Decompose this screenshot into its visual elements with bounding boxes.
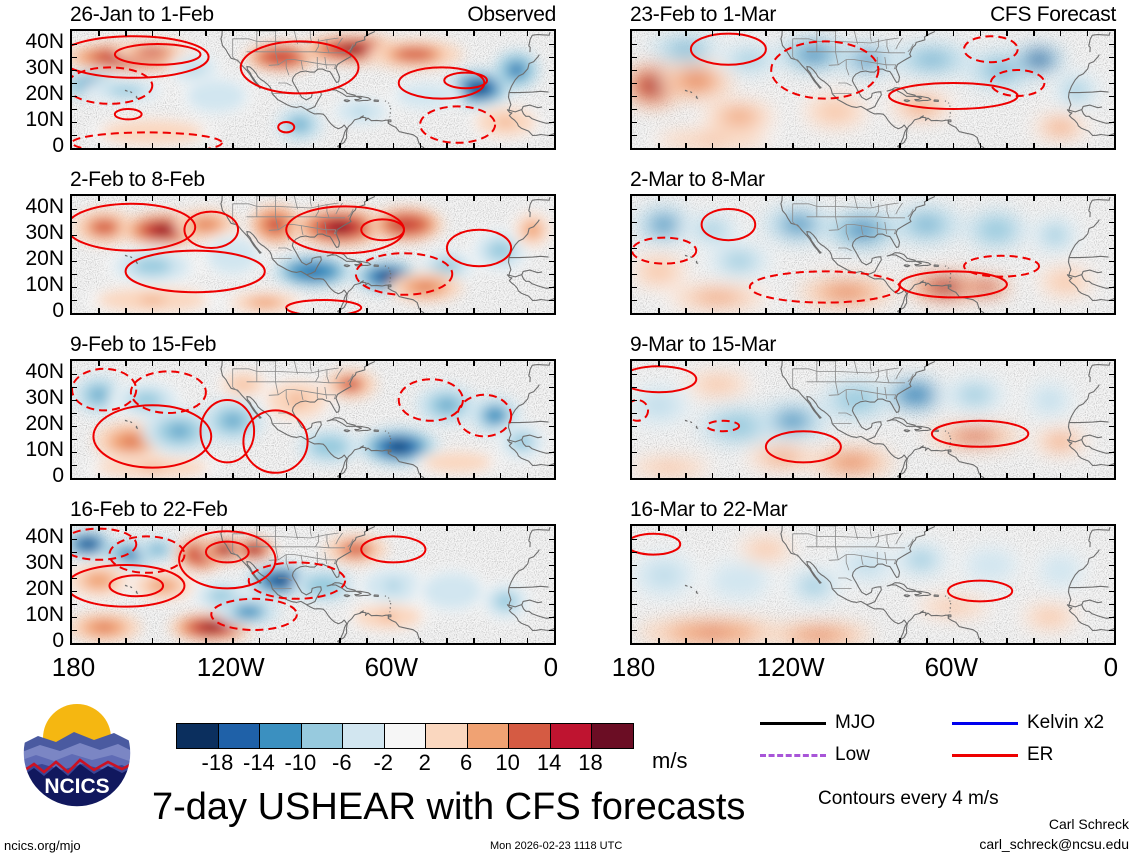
axis-tick [846, 473, 848, 478]
axis-tick [152, 526, 154, 531]
axis-tick [366, 638, 368, 643]
axis-tick [339, 143, 341, 148]
y-tick-label: 0 [52, 630, 64, 651]
axis-tick [98, 473, 100, 478]
axis-tick [232, 196, 234, 201]
axis-tick [549, 222, 554, 224]
axis-tick [1033, 31, 1035, 36]
axis-tick [632, 617, 637, 619]
axis-tick [632, 413, 637, 415]
axis-tick [125, 31, 127, 36]
axis-tick [125, 196, 127, 201]
axis-tick [1006, 308, 1008, 313]
x-tick-label: 120W [757, 652, 825, 683]
axis-tick [873, 308, 875, 313]
axis-tick [549, 630, 554, 632]
axis-tick [313, 196, 315, 201]
axis-tick [1109, 209, 1114, 211]
axis-tick [72, 248, 77, 250]
axis-tick [1109, 374, 1114, 376]
axis-tick [1006, 196, 1008, 201]
axis-tick [549, 96, 554, 98]
axis-tick [125, 526, 127, 531]
axis-tick [1109, 261, 1114, 263]
axis-tick [980, 143, 982, 148]
colorbar-swatch-8 [509, 724, 551, 748]
panel-title: 16-Mar to 22-Mar [630, 498, 787, 522]
map-plot-area [630, 359, 1116, 480]
axis-tick [549, 109, 554, 111]
axis-tick [179, 31, 181, 36]
map-plot-area [70, 29, 556, 150]
panel-title: 2-Mar to 8-Mar [630, 168, 765, 192]
axis-tick [98, 638, 100, 643]
axis-tick [632, 109, 637, 111]
axis-tick [1109, 426, 1114, 428]
axis-tick [739, 196, 741, 201]
axis-tick [72, 452, 77, 454]
legend-line-swatch [760, 754, 826, 757]
y-tick-label: 20N [25, 578, 64, 599]
axis-tick [1109, 57, 1114, 59]
axis-tick [420, 638, 422, 643]
axis-tick [286, 196, 288, 201]
axis-tick [846, 143, 848, 148]
axis-tick [632, 222, 637, 224]
axis-tick [152, 196, 154, 201]
x-tick-label: 0 [1104, 652, 1118, 683]
axis-tick [393, 308, 395, 313]
x-axis-labels-right: 180120W60W0 [630, 652, 1110, 682]
axis-tick [685, 308, 687, 313]
y-tick-label: 10N [25, 109, 64, 130]
axis-tick [1109, 400, 1114, 402]
axis-tick [72, 565, 77, 567]
axis-tick [1109, 287, 1114, 289]
y-tick-label: 30N [25, 222, 64, 243]
axis-tick [549, 135, 554, 137]
axis-tick [1006, 526, 1008, 531]
axis-tick [926, 361, 928, 366]
axis-tick [739, 308, 741, 313]
y-tick-label: 40N [25, 196, 64, 217]
x-tick-label: 0 [544, 652, 558, 683]
axis-tick [152, 308, 154, 313]
colorbar-swatch-9 [551, 724, 593, 748]
axis-tick [1109, 591, 1114, 593]
axis-tick [712, 638, 714, 643]
axis-tick [549, 578, 554, 580]
axis-tick [739, 473, 741, 478]
axis-tick [953, 308, 955, 313]
axis-tick [473, 361, 475, 366]
axis-tick [259, 196, 261, 201]
axis-tick [72, 235, 77, 237]
axis-tick [632, 96, 637, 98]
axis-tick [846, 196, 848, 201]
author-email: carl_schreck@ncsu.edu [979, 836, 1129, 852]
y-tick-label: 40N [25, 31, 64, 52]
axis-tick [259, 361, 261, 366]
y-tick-label: 20N [25, 413, 64, 434]
axis-tick [549, 465, 554, 467]
panel-3: 9-Feb to 15-Feb 40N30N20N10N0 [70, 334, 556, 481]
colorbar-swatch-10 [592, 724, 633, 748]
axis-tick [286, 31, 288, 36]
axis-tick [685, 361, 687, 366]
axis-tick [72, 374, 77, 376]
axis-tick [549, 44, 554, 46]
axis-tick [549, 70, 554, 72]
axis-tick [632, 287, 637, 289]
axis-tick [658, 308, 660, 313]
axis-tick [819, 526, 821, 531]
axis-tick [632, 604, 637, 606]
axis-tick [873, 526, 875, 531]
axis-tick [98, 308, 100, 313]
axis-tick [527, 526, 529, 531]
axis-tick [846, 361, 848, 366]
axis-tick [313, 526, 315, 531]
axis-tick [1109, 44, 1114, 46]
axis-tick [72, 591, 77, 593]
axis-tick [926, 31, 928, 36]
y-axis-labels: 40N30N20N10N0 [4, 194, 64, 311]
axis-tick [632, 539, 637, 541]
axis-tick [632, 209, 637, 211]
axis-tick [72, 70, 77, 72]
axis-tick [1087, 361, 1089, 366]
axis-tick [420, 143, 422, 148]
x-tick-label: 60W [925, 652, 978, 683]
axis-tick [286, 638, 288, 643]
axis-tick [259, 638, 261, 643]
axis-tick [846, 31, 848, 36]
axis-tick [259, 308, 261, 313]
axis-tick [792, 638, 794, 643]
axis-tick [420, 308, 422, 313]
axis-tick [72, 96, 77, 98]
axis-tick [500, 361, 502, 366]
axis-tick [1109, 135, 1114, 137]
contour-interval-note: Contours every 4 m/s [818, 788, 999, 810]
axis-tick [72, 122, 77, 124]
axis-tick [549, 248, 554, 250]
axis-tick [953, 638, 955, 643]
axis-tick [632, 248, 637, 250]
axis-tick [765, 526, 767, 531]
y-tick-label: 0 [52, 300, 64, 321]
axis-tick [926, 638, 928, 643]
axis-tick [205, 143, 207, 148]
axis-tick [72, 44, 77, 46]
axis-tick [632, 235, 637, 237]
axis-tick [549, 287, 554, 289]
axis-tick [926, 308, 928, 313]
column-header: CFS Forecast [990, 3, 1116, 27]
axis-tick [72, 539, 77, 541]
axis-tick [632, 465, 637, 467]
axis-tick [712, 526, 714, 531]
axis-tick [72, 426, 77, 428]
axis-tick [549, 235, 554, 237]
axis-tick [1109, 235, 1114, 237]
axis-tick [205, 526, 207, 531]
axis-tick [549, 261, 554, 263]
axis-tick [632, 552, 637, 554]
panel-2: 2-Feb to 8-Feb 40N30N20N10N0 [70, 169, 556, 316]
axis-tick [1006, 143, 1008, 148]
axis-tick [549, 83, 554, 85]
axis-tick [549, 400, 554, 402]
axis-tick [72, 413, 77, 415]
axis-tick [339, 308, 341, 313]
axis-tick [1033, 143, 1035, 148]
axis-tick [393, 473, 395, 478]
legend-item-mjo: MJO [760, 712, 875, 734]
axis-tick [632, 630, 637, 632]
axis-tick [765, 143, 767, 148]
axis-tick [1109, 274, 1114, 276]
timestamp: Mon 2026-02-23 1118 UTC [490, 840, 622, 852]
axis-tick [632, 452, 637, 454]
axis-tick [420, 196, 422, 201]
legend-item-low: Low [760, 744, 870, 766]
panel-7: 9-Mar to 15-Mar [630, 334, 1116, 481]
axis-tick [658, 143, 660, 148]
axis-tick [846, 308, 848, 313]
axis-tick [926, 473, 928, 478]
axis-tick [685, 31, 687, 36]
axis-tick [953, 361, 955, 366]
axis-tick [98, 143, 100, 148]
axis-tick [739, 31, 741, 36]
axis-tick [286, 143, 288, 148]
axis-tick [286, 473, 288, 478]
axis-tick [72, 109, 77, 111]
axis-tick [1109, 565, 1114, 567]
legend-item-er: ER [952, 744, 1053, 766]
axis-tick [1087, 143, 1089, 148]
y-tick-label: 20N [25, 83, 64, 104]
axis-tick [286, 526, 288, 531]
axis-tick [685, 638, 687, 643]
axis-tick [205, 31, 207, 36]
axis-tick [366, 143, 368, 148]
axis-tick [232, 361, 234, 366]
axis-tick [393, 361, 395, 366]
axis-tick [819, 196, 821, 201]
axis-tick [98, 31, 100, 36]
axis-tick [873, 638, 875, 643]
axis-tick [549, 374, 554, 376]
axis-tick [259, 473, 261, 478]
y-tick-label: 20N [25, 248, 64, 269]
axis-tick [72, 439, 77, 441]
axis-tick [632, 261, 637, 263]
legend-label: Low [835, 744, 870, 766]
axis-tick [739, 638, 741, 643]
panel-5: 23-Feb to 1-MarCFS Forecast [630, 4, 1116, 151]
colorbar-swatch-3 [302, 724, 344, 748]
axis-tick [72, 552, 77, 554]
axis-tick [232, 308, 234, 313]
axis-tick [232, 638, 234, 643]
axis-tick [846, 526, 848, 531]
axis-tick [259, 526, 261, 531]
axis-tick [500, 526, 502, 531]
column-header: Observed [467, 3, 556, 27]
axis-tick [1109, 248, 1114, 250]
axis-tick [712, 473, 714, 478]
axis-tick [98, 526, 100, 531]
axis-tick [366, 308, 368, 313]
axis-tick [1109, 109, 1114, 111]
y-tick-label: 30N [25, 387, 64, 408]
y-tick-label: 30N [25, 57, 64, 78]
axis-tick [125, 638, 127, 643]
axis-tick [632, 70, 637, 72]
axis-tick [1033, 308, 1035, 313]
axis-tick [980, 526, 982, 531]
axis-tick [632, 426, 637, 428]
x-tick-label: 180 [52, 652, 95, 683]
axis-tick [339, 31, 341, 36]
map-plot-area [70, 194, 556, 315]
panel-8: 16-Mar to 22-Mar [630, 499, 1116, 646]
map-plot-area [630, 194, 1116, 315]
axis-tick [1060, 526, 1062, 531]
axis-tick [446, 31, 448, 36]
axis-tick [179, 473, 181, 478]
axis-tick [632, 300, 637, 302]
axis-tick [549, 539, 554, 541]
axis-tick [500, 473, 502, 478]
y-tick-label: 10N [25, 439, 64, 460]
axis-tick [393, 31, 395, 36]
axis-tick [1109, 539, 1114, 541]
legend-item-kelvin-x2: Kelvin x2 [952, 712, 1104, 734]
axis-tick [1087, 473, 1089, 478]
y-tick-label: 30N [25, 552, 64, 573]
axis-tick [1060, 638, 1062, 643]
axis-tick [366, 196, 368, 201]
axis-tick [549, 452, 554, 454]
y-tick-label: 40N [25, 526, 64, 547]
panel-title: 23-Feb to 1-Mar [630, 3, 776, 27]
ncics-logo: NCICS [22, 698, 132, 808]
panel-title: 9-Feb to 15-Feb [70, 333, 216, 357]
axis-tick [259, 31, 261, 36]
axis-tick [765, 196, 767, 201]
axis-tick [72, 287, 77, 289]
legend-line-swatch [760, 722, 826, 725]
axis-tick [420, 31, 422, 36]
axis-tick [446, 196, 448, 201]
axis-tick [179, 526, 181, 531]
axis-tick [446, 361, 448, 366]
axis-tick [205, 638, 207, 643]
axis-tick [313, 308, 315, 313]
axis-tick [926, 526, 928, 531]
axis-tick [765, 31, 767, 36]
axis-tick [899, 308, 901, 313]
axis-tick [632, 565, 637, 567]
axis-tick [549, 552, 554, 554]
colorbar-swatch-7 [468, 724, 510, 748]
axis-tick [232, 31, 234, 36]
axis-tick [1033, 526, 1035, 531]
axis-tick [549, 591, 554, 593]
axis-tick [792, 196, 794, 201]
axis-tick [98, 361, 100, 366]
axis-tick [658, 361, 660, 366]
legend-label: Kelvin x2 [1027, 712, 1104, 734]
axis-tick [819, 361, 821, 366]
axis-tick [393, 638, 395, 643]
axis-tick [125, 308, 127, 313]
panel-6: 2-Mar to 8-Mar [630, 169, 1116, 316]
axis-tick [712, 143, 714, 148]
axis-tick [473, 308, 475, 313]
axis-tick [527, 196, 529, 201]
axis-tick [152, 638, 154, 643]
map-plot-area [70, 524, 556, 645]
y-axis-labels: 40N30N20N10N0 [4, 524, 64, 641]
y-tick-label: 10N [25, 604, 64, 625]
colorbar-swatch-6 [426, 724, 468, 748]
axis-tick [1087, 526, 1089, 531]
axis-tick [873, 473, 875, 478]
axis-tick [313, 31, 315, 36]
axis-tick [313, 638, 315, 643]
axis-tick [632, 44, 637, 46]
axis-tick [72, 209, 77, 211]
axis-tick [765, 473, 767, 478]
axis-tick [446, 308, 448, 313]
axis-tick [72, 135, 77, 137]
axis-tick [339, 638, 341, 643]
x-tick-label: 120W [197, 652, 265, 683]
x-tick-label: 180 [612, 652, 655, 683]
axis-tick [819, 31, 821, 36]
axis-tick [473, 526, 475, 531]
axis-tick [1087, 308, 1089, 313]
axis-tick [98, 196, 100, 201]
axis-tick [527, 31, 529, 36]
colorbar-swatch-2 [260, 724, 302, 748]
axis-tick [473, 31, 475, 36]
axis-tick [152, 361, 154, 366]
contour-legend: MJOKelvin x2LowER [760, 712, 1120, 774]
colorbar [176, 723, 634, 749]
axis-tick [1033, 473, 1035, 478]
axis-tick [899, 31, 901, 36]
axis-tick [980, 361, 982, 366]
axis-tick [420, 361, 422, 366]
axis-tick [792, 473, 794, 478]
axis-tick [846, 638, 848, 643]
axis-tick [205, 473, 207, 478]
y-tick-label: 0 [52, 465, 64, 486]
axis-tick [926, 196, 928, 201]
axis-tick [712, 361, 714, 366]
axis-tick [873, 143, 875, 148]
axis-tick [549, 565, 554, 567]
axis-tick [739, 526, 741, 531]
axis-tick [632, 83, 637, 85]
axis-tick [899, 526, 901, 531]
